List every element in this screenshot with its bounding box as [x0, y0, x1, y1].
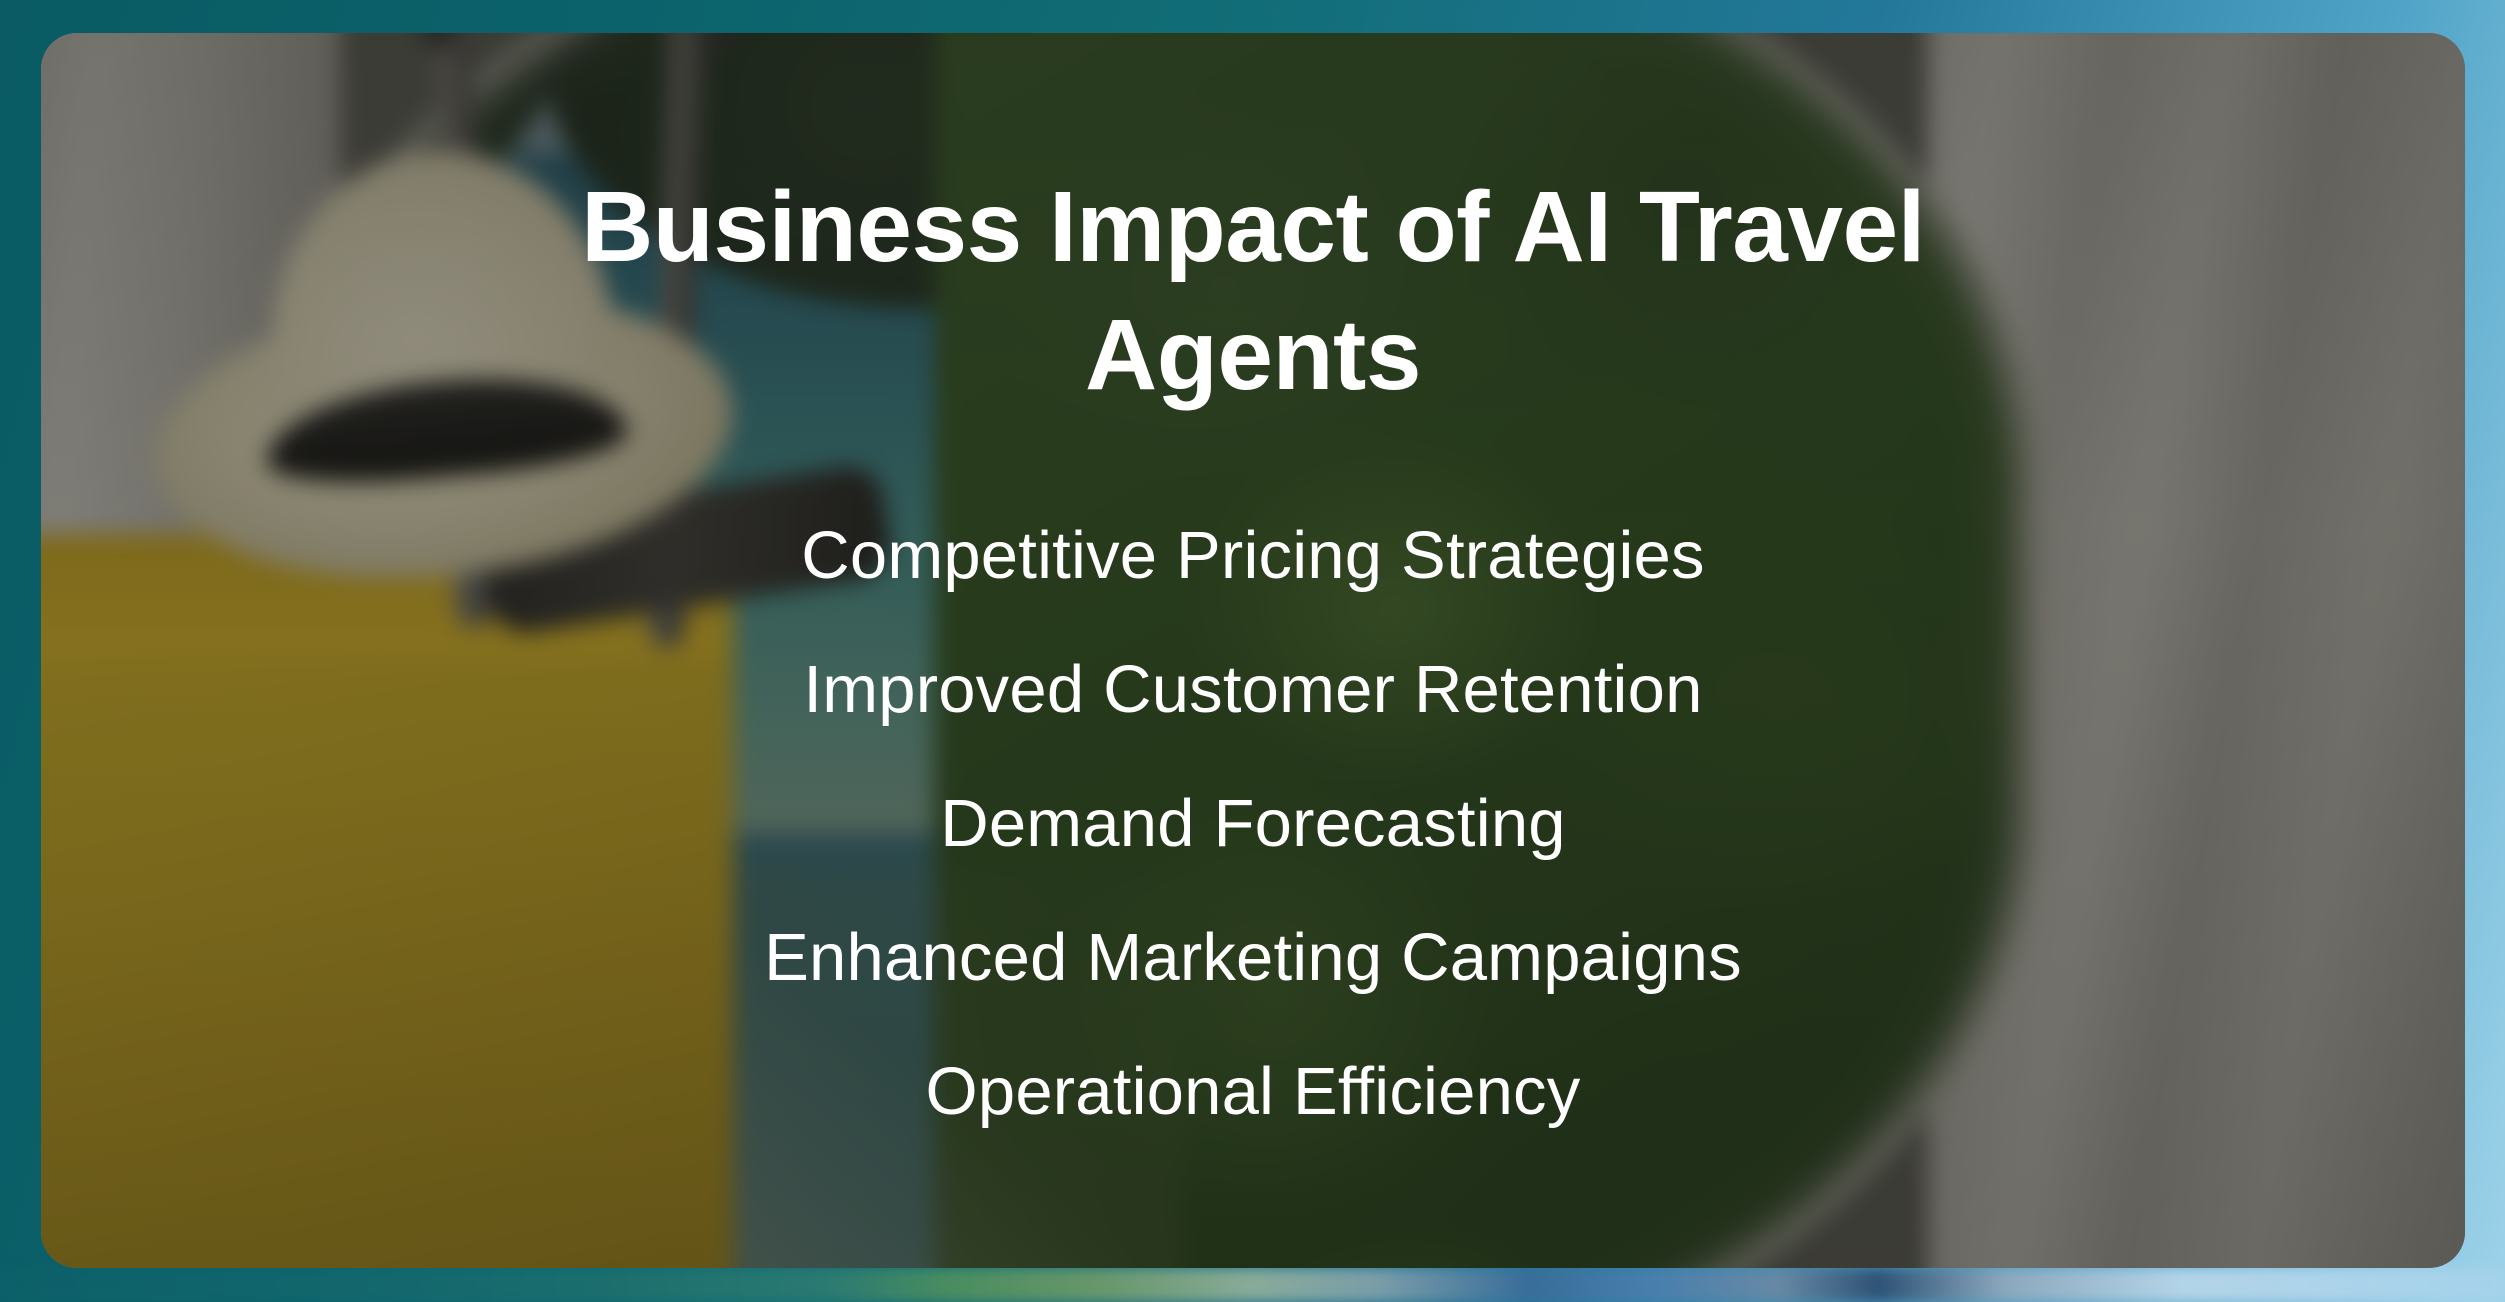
bullet-item: Operational Efficiency	[403, 1025, 2103, 1159]
bullet-item: Competitive Pricing Strategies	[403, 489, 2103, 623]
bullet-item: Improved Customer Retention	[403, 623, 2103, 757]
bullet-item: Enhanced Marketing Campaigns	[403, 891, 2103, 1025]
slide-frame: Business Impact of AI Travel Agents Comp…	[0, 0, 2505, 1302]
slide-content: Business Impact of AI Travel Agents Comp…	[41, 33, 2465, 1268]
photo-card: Business Impact of AI Travel Agents Comp…	[41, 33, 2465, 1268]
bullet-item: Demand Forecasting	[403, 757, 2103, 891]
frame-image-bleed	[0, 1268, 2505, 1302]
bullet-list: Competitive Pricing Strategies Improved …	[403, 489, 2103, 1159]
slide-title: Business Impact of AI Travel Agents	[443, 163, 2063, 419]
